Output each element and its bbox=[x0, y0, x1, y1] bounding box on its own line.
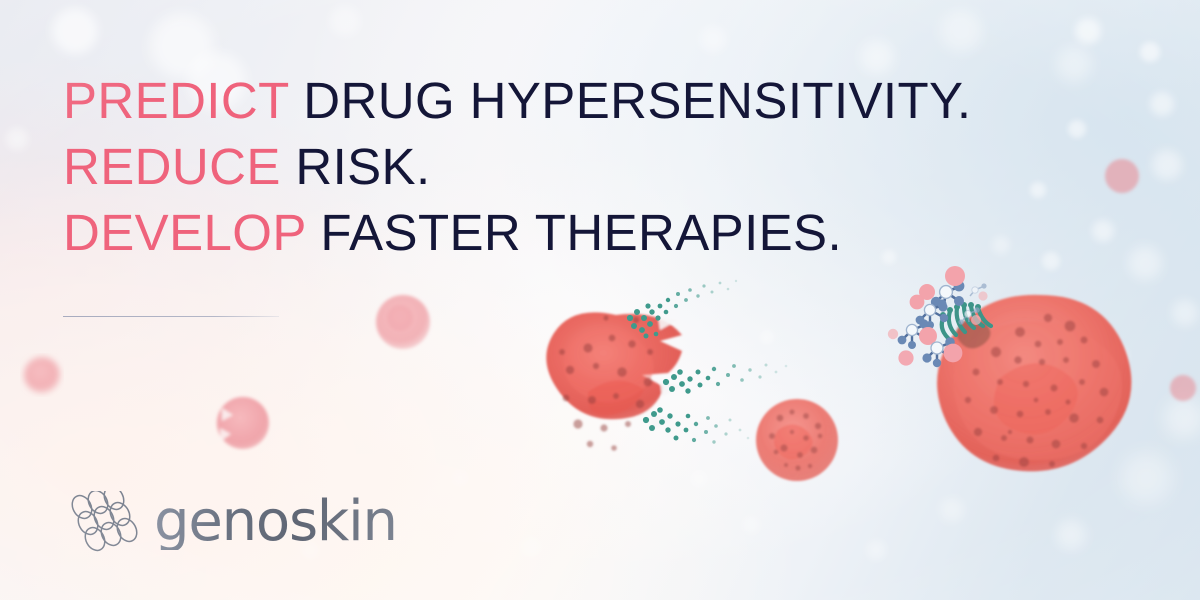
genoskin-banner: PREDICT DRUG HYPERSENSITIVITY. REDUCE RI… bbox=[0, 0, 1200, 600]
background-vignette bbox=[0, 0, 1200, 600]
